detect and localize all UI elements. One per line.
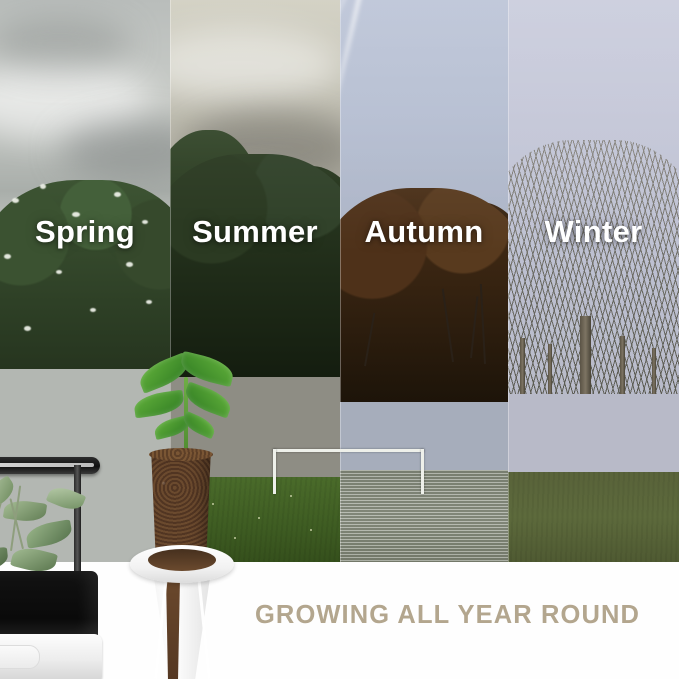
tagline-text: GROWING ALL YEAR ROUND (255, 601, 640, 630)
spring-treeline (0, 158, 170, 369)
seed-pod-assembly (122, 349, 242, 679)
season-panel-winter (508, 0, 679, 562)
device-control-button[interactable] (0, 645, 40, 669)
summer-treeline (170, 120, 340, 377)
seed-pod-collar-opening (148, 549, 216, 571)
herb-plants (0, 467, 102, 579)
hydroponic-garden-device (0, 379, 103, 679)
football-goal (273, 449, 424, 494)
autumn-treeline (340, 168, 508, 402)
basket-slot (166, 577, 180, 679)
marketing-banner: Spring Summer Autumn Winter GROWING ALL … (0, 0, 679, 679)
winter-ground (508, 472, 679, 562)
device-body (0, 571, 98, 639)
winter-bare-treeline (508, 132, 679, 394)
grow-plug-top (149, 448, 213, 461)
